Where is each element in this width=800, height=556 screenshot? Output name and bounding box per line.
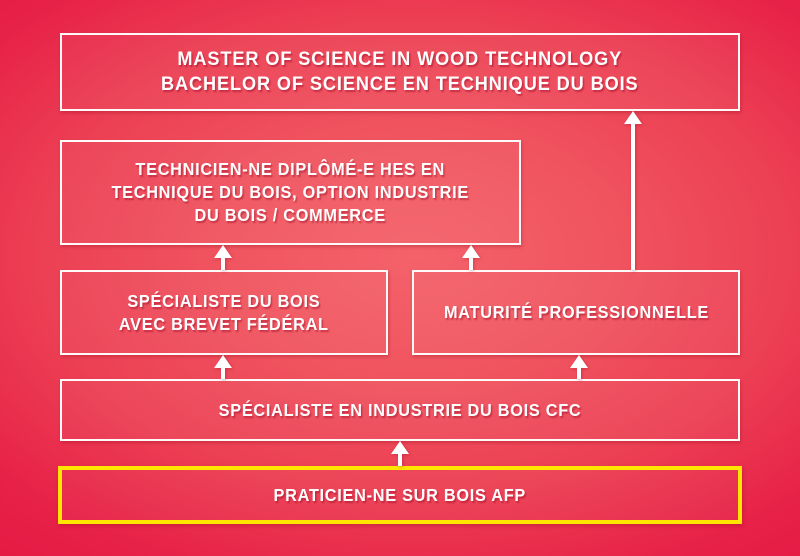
arrow-head <box>214 245 232 258</box>
node-label: Spécialiste du bois avec brevet fédéral <box>110 290 338 336</box>
arrow-head <box>624 111 642 124</box>
arrow-up-icon-cfc-to-specialiste <box>212 355 234 379</box>
arrow-stem <box>577 367 581 379</box>
arrow-stem <box>221 367 225 379</box>
arrow-stem <box>469 257 473 270</box>
arrow-up-icon-maturite-to-technicien <box>460 245 482 270</box>
arrow-head <box>391 441 409 454</box>
node-praticien-sur-bois-afp[interactable]: Praticien-ne sur bois AFP <box>58 466 742 524</box>
node-maturite-professionnelle[interactable]: Maturité professionnelle <box>412 270 740 355</box>
arrow-up-icon-specialiste-to-technicien <box>212 245 234 270</box>
arrow-up-icon-maturite-to-master <box>622 111 644 270</box>
node-specialiste-industrie-bois-cfc[interactable]: Spécialiste en industrie du bois CFC <box>60 379 740 441</box>
arrow-stem <box>631 123 635 270</box>
node-label: Maturité professionnelle <box>434 301 718 324</box>
arrow-head <box>570 355 588 368</box>
arrow-stem <box>221 257 225 270</box>
arrow-head <box>214 355 232 368</box>
arrow-up-icon-cfc-to-maturite <box>568 355 590 379</box>
node-label: Spécialiste en industrie du bois CFC <box>209 399 590 422</box>
arrow-stem <box>398 453 402 466</box>
node-specialiste-brevet-federal[interactable]: Spécialiste du bois avec brevet fédéral <box>60 270 388 355</box>
node-label: Master of Science in Wood Technology Bac… <box>152 47 648 98</box>
node-master-of-science[interactable]: Master of Science in Wood Technology Bac… <box>60 33 740 111</box>
node-label: Technicien-ne diplômé-e HES en Technique… <box>102 158 478 226</box>
node-technicien-hes[interactable]: Technicien-ne diplômé-e HES en Technique… <box>60 140 521 245</box>
node-label: Praticien-ne sur bois AFP <box>264 484 535 507</box>
arrow-up-icon-praticien-to-cfc <box>389 441 411 466</box>
career-path-diagram: Master of Science in Wood Technology Bac… <box>0 0 800 556</box>
arrow-head <box>462 245 480 258</box>
